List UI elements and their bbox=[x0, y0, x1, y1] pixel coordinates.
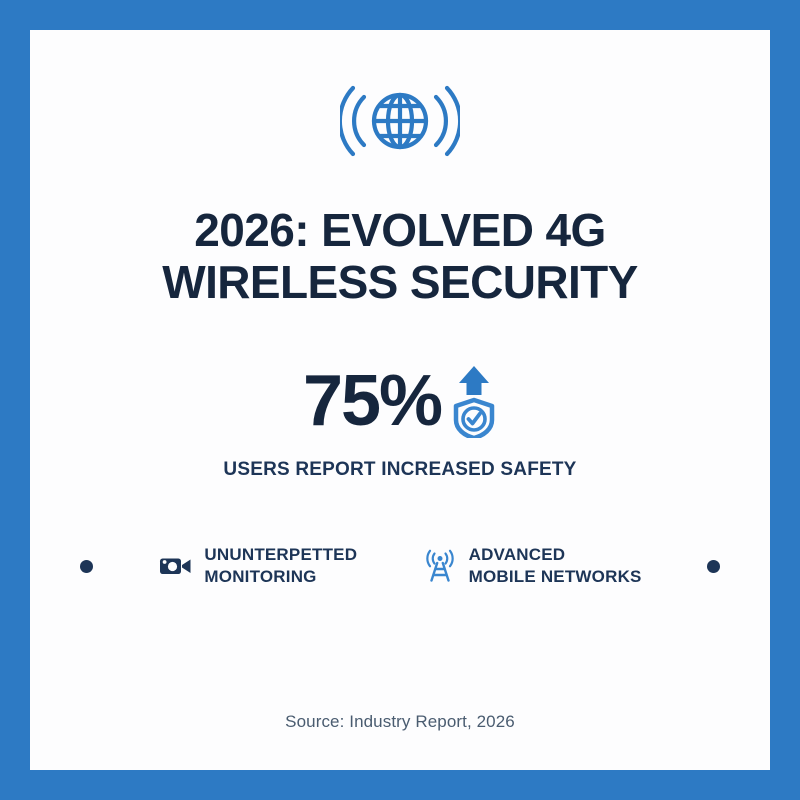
feature-label-monitoring: Ununterpetted Monitoring bbox=[204, 544, 357, 588]
statistic-caption: Users Report Increased Safety bbox=[223, 458, 576, 482]
page-title: 2026: Evolved 4G Wireless Security bbox=[90, 205, 710, 308]
feature-item-monitoring: Ununterpetted Monitoring bbox=[158, 544, 357, 588]
video-camera-icon bbox=[158, 549, 192, 583]
globe-signal-icon bbox=[340, 75, 460, 167]
statistic-block: 75% Users Report Increased Safety bbox=[223, 364, 576, 482]
feature-label-networks: Advanced Mobile Networks bbox=[469, 544, 642, 588]
bullet-dot-left bbox=[80, 560, 93, 573]
statistic-value: 75% bbox=[303, 365, 441, 437]
infographic-poster: 2026: Evolved 4G Wireless Security 75% U… bbox=[0, 0, 800, 800]
arrow-up-shield-check-icon bbox=[451, 364, 497, 438]
feature-item-networks: Advanced Mobile Networks bbox=[423, 544, 642, 588]
poster-card: 2026: Evolved 4G Wireless Security 75% U… bbox=[30, 30, 770, 770]
feature-list: Ununterpetted Monitoring bbox=[80, 544, 720, 588]
statistic-row: 75% bbox=[303, 364, 497, 438]
cell-tower-icon bbox=[423, 549, 457, 583]
source-note: Source: Industry Report, 2026 bbox=[30, 712, 770, 732]
bullet-dot-right bbox=[707, 560, 720, 573]
